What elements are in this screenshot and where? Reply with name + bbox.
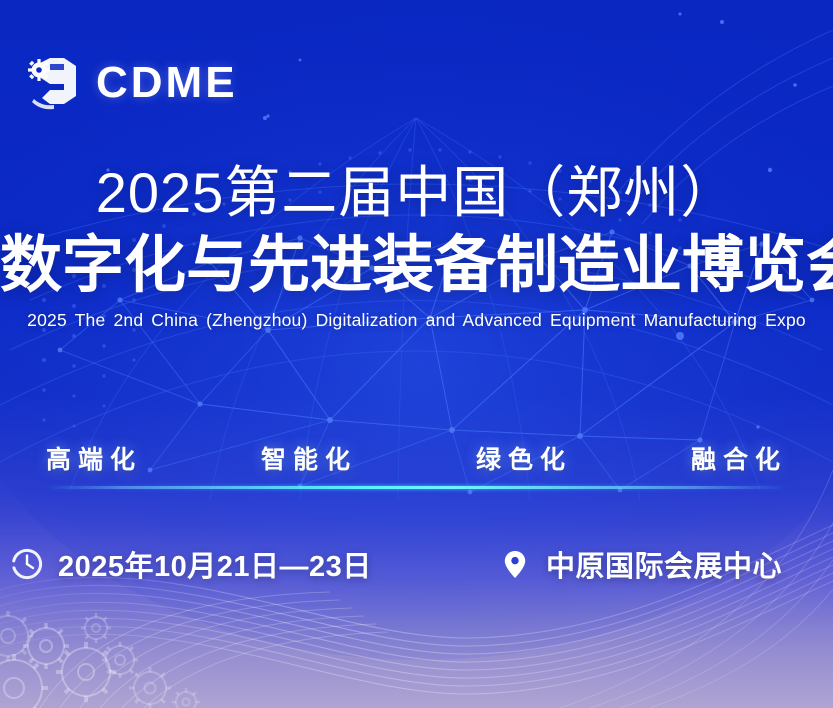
event-poster: CDME 2025第二届中国（郑州） 数字化与先进装备制造业博览会 2025 T…	[0, 0, 833, 708]
keyword-row: 高端化 智能化 绿色化 融合化	[46, 440, 787, 476]
title-line-1: 2025第二届中国（郑州）	[0, 162, 833, 225]
event-info-row: 2025年10月21日—23日 中原国际会展中心	[0, 536, 833, 592]
logo-wordmark: CDME	[96, 61, 238, 105]
location-pin-icon	[498, 547, 532, 581]
event-venue: 中原国际会展中心	[498, 536, 782, 592]
event-date: 2025年10月21日—23日	[10, 536, 372, 592]
title-english: 2025 The 2nd China (Zhengzhou) Digitaliz…	[0, 310, 833, 331]
keyword-item: 高端化	[46, 440, 142, 476]
cdme-gear-s-logo-icon	[24, 52, 82, 114]
clock-icon	[10, 547, 44, 581]
keyword-item: 绿色化	[476, 440, 572, 476]
divider-line	[50, 486, 783, 489]
title-line-2: 数字化与先进装备制造业博览会	[0, 231, 833, 300]
keyword-item: 智能化	[261, 440, 357, 476]
event-venue-text: 中原国际会展中心	[546, 543, 782, 585]
glowing-divider	[0, 480, 833, 494]
title-block: 2025第二届中国（郑州） 数字化与先进装备制造业博览会 2025 The 2n…	[0, 162, 833, 331]
keyword-item: 融合化	[691, 440, 787, 476]
event-date-text: 2025年10月21日—23日	[58, 543, 372, 585]
brand-logo[interactable]: CDME	[24, 52, 238, 114]
